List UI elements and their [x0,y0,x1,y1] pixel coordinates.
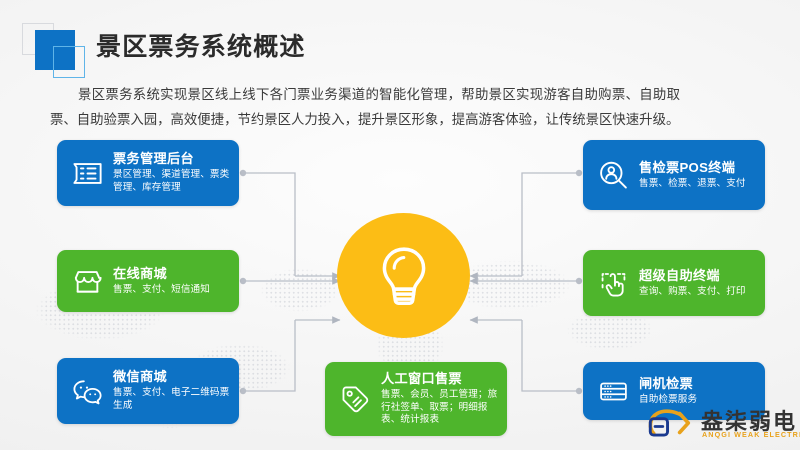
gate-server-icon [592,370,634,412]
card-subtitle: 售票、会员、员工管理；旅行社签单、取票；明细报表、统计报表 [381,389,498,427]
touch-hand-icon [592,262,634,304]
price-tag-icon [334,378,376,420]
card-title: 微信商城 [113,369,230,385]
logo-text-en: ANQGI WEAK ELECTRICITY [702,430,800,439]
card-backend[interactable]: 票务管理后台 景区管理、渠道管理、票类管理、库存管理 [57,140,239,206]
card-title: 人工窗口售票 [381,371,498,387]
card-title: 票务管理后台 [113,151,230,167]
card-title: 售检票POS终端 [639,160,746,176]
slide-canvas: 景区票务系统概述 景区票务系统实现景区线上线下各门票业务渠道的智能化管理，帮助景… [0,0,800,450]
card-wechat-shop[interactable]: 微信商城 售票、支付、电子二维码票生成 [57,358,239,424]
person-search-icon [592,154,634,196]
card-online-shop[interactable]: 在线商城 售票、支付、短信通知 [57,250,239,312]
center-hub [337,213,470,338]
storefront-icon [66,260,108,302]
card-subtitle: 景区管理、渠道管理、票类管理、库存管理 [113,169,230,194]
wechat-icon [66,370,108,412]
card-manual-window-sales[interactable]: 人工窗口售票 售票、会员、员工管理；旅行社签单、取票；明细报表、统计报表 [325,362,507,436]
card-pos-terminal[interactable]: 售检票POS终端 售票、检票、退票、支付 [583,140,765,210]
company-logo: 盎柒弱电 ANQGI WEAK ELECTRICITY [645,400,795,446]
card-title: 闸机检票 [639,376,697,392]
ticket-list-icon [66,152,108,194]
card-subtitle: 售票、支付、电子二维码票生成 [113,387,230,412]
card-title: 超级自助终端 [639,268,746,284]
logo-mark-icon [645,404,697,442]
card-subtitle: 售票、检票、退票、支付 [639,178,746,191]
lightbulb-icon [371,243,437,309]
card-title: 在线商城 [113,266,210,282]
card-self-service-terminal[interactable]: 超级自助终端 查询、购票、支付、打印 [583,250,765,316]
card-subtitle: 售票、支付、短信通知 [113,284,210,297]
card-subtitle: 查询、购票、支付、打印 [639,286,746,299]
